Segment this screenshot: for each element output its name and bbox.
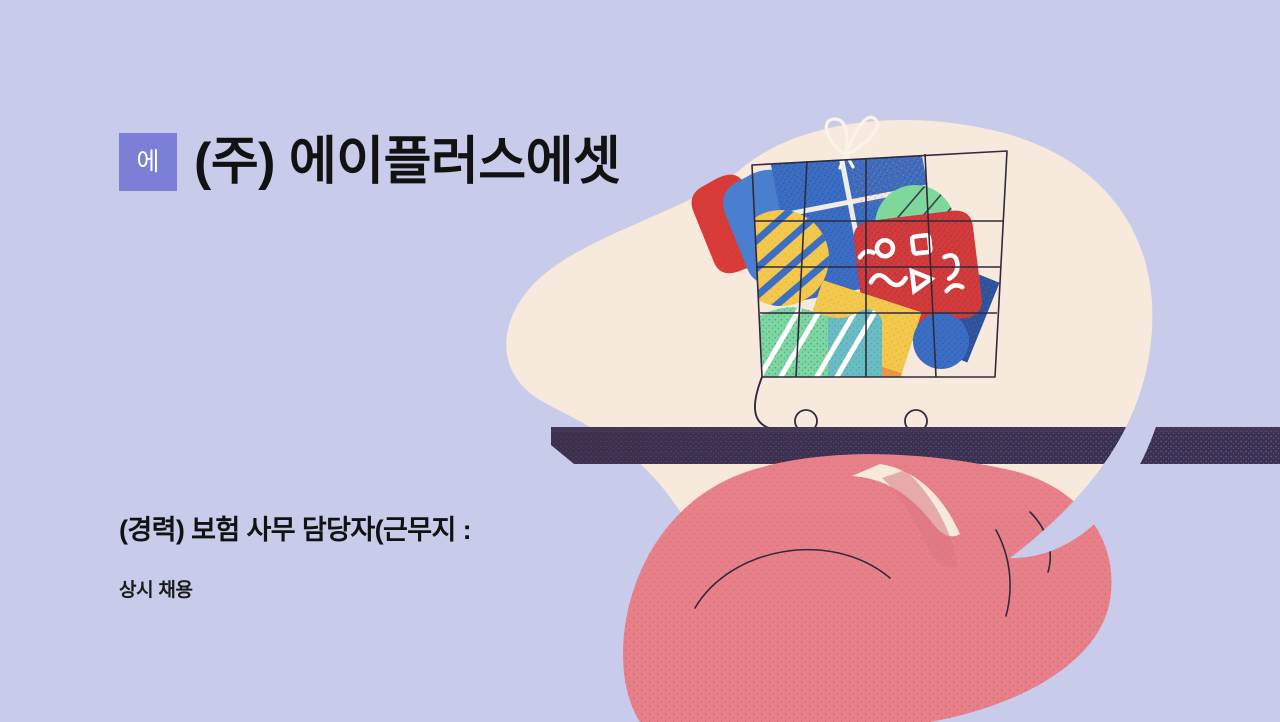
company-logo-badge: 에 [119, 133, 177, 191]
company-header: 에 (주) 에이플러스에셋 [119, 133, 620, 191]
job-posting-card: 에 (주) 에이플러스에셋 (경력) 보험 사무 담당자(근무지 : 상시 채용 [0, 0, 1280, 722]
text-layer: 에 (주) 에이플러스에셋 (경력) 보험 사무 담당자(근무지 : 상시 채용 [0, 0, 1280, 722]
hiring-status: 상시 채용 [119, 575, 193, 602]
company-name: (주) 에이플러스에셋 [194, 135, 620, 190]
job-title: (경력) 보험 사무 담당자(근무지 : [119, 508, 471, 547]
company-logo-initial: 에 [136, 150, 159, 175]
